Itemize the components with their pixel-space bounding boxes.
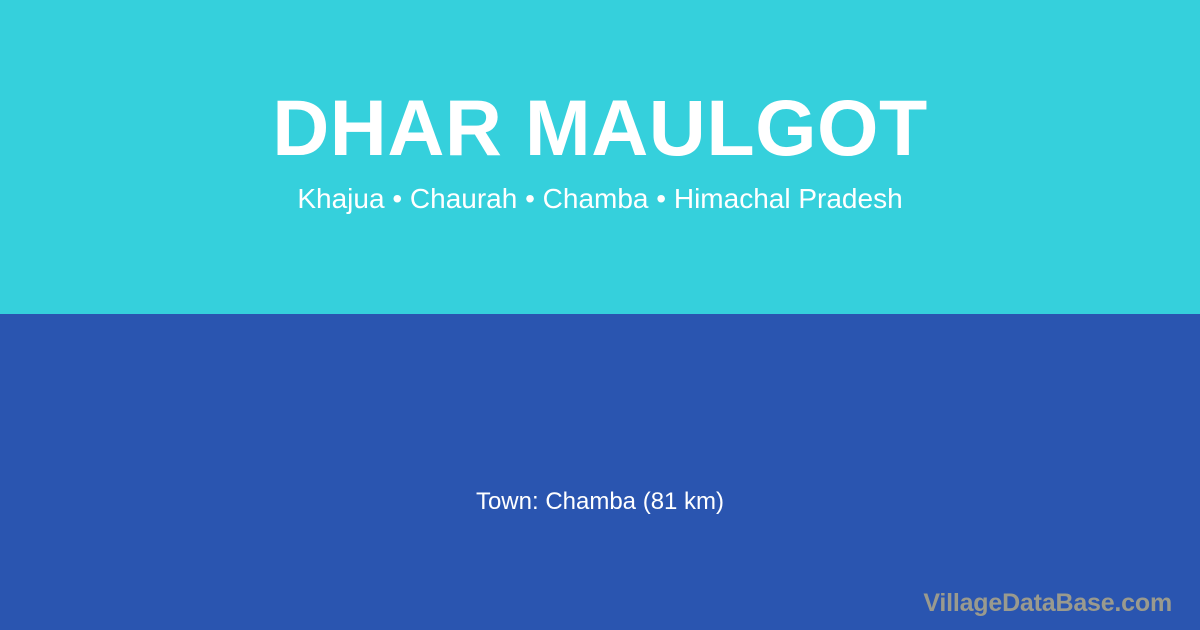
village-info-card: DHAR MAULGOT Khajua • Chaurah • Chamba •… — [0, 0, 1200, 630]
ghost-overlay-text — [24, 318, 884, 338]
body-panel: Town: Chamba (81 km) VillageDataBase.com — [0, 314, 1200, 630]
site-watermark: VillageDataBase.com — [923, 588, 1172, 618]
page-title: DHAR MAULGOT — [0, 82, 1200, 174]
breadcrumb: Khajua • Chaurah • Chamba • Himachal Pra… — [0, 181, 1200, 217]
nearest-town-detail: Town: Chamba (81 km) — [0, 486, 1200, 518]
hero-banner: DHAR MAULGOT Khajua • Chaurah • Chamba •… — [0, 0, 1200, 314]
